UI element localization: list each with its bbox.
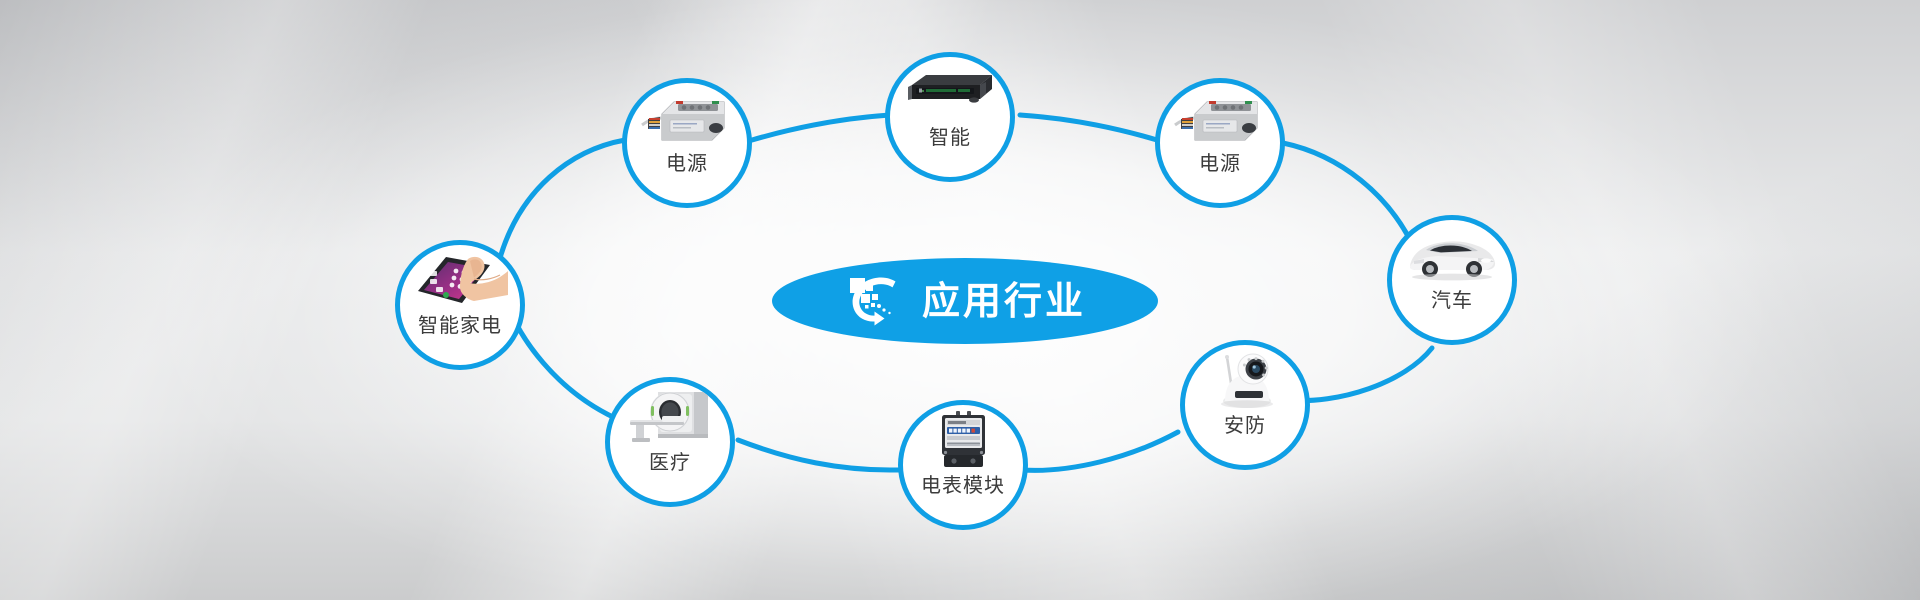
node-medical[interactable]: 医疗 bbox=[605, 377, 735, 507]
node-label: 电源 bbox=[666, 153, 708, 173]
link-meter-medical bbox=[738, 440, 898, 470]
sports-car-icon bbox=[1392, 220, 1512, 290]
link-intelligent-power-right bbox=[1020, 115, 1157, 140]
orbit-pixel-logo-icon bbox=[844, 272, 906, 330]
node-power-top-right[interactable]: 电源 bbox=[1155, 78, 1285, 208]
node-security[interactable]: 安防 bbox=[1180, 340, 1310, 470]
node-label: 智能 bbox=[929, 127, 971, 147]
ct-scanner-icon bbox=[610, 382, 730, 452]
tablet-touch-icon bbox=[400, 245, 520, 315]
node-meter-module[interactable]: 电表模块 bbox=[898, 400, 1028, 530]
node-label: 汽车 bbox=[1431, 290, 1473, 310]
node-label: 安防 bbox=[1224, 415, 1266, 435]
power-supply-icon bbox=[627, 83, 747, 153]
node-automotive[interactable]: 汽车 bbox=[1387, 215, 1517, 345]
node-intelligent[interactable]: 智能 bbox=[885, 52, 1015, 182]
node-label: 电源 bbox=[1199, 153, 1241, 173]
center-badge[interactable]: 应用行业 bbox=[772, 258, 1158, 344]
node-label: 智能家电 bbox=[418, 315, 502, 335]
link-security-meter bbox=[1022, 432, 1178, 470]
node-label: 医疗 bbox=[649, 452, 691, 472]
node-label: 电表模块 bbox=[921, 475, 1005, 495]
center-badge-label: 应用行业 bbox=[922, 282, 1086, 320]
ip-camera-icon bbox=[1185, 345, 1305, 415]
link-smarthome-power-left bbox=[500, 140, 625, 258]
power-supply-icon bbox=[1160, 83, 1280, 153]
link-power-left-intelligent bbox=[752, 115, 890, 140]
industry-application-banner: 电源 智能 bbox=[0, 0, 1920, 600]
rack-server-icon bbox=[890, 57, 1010, 127]
node-power-top-left[interactable]: 电源 bbox=[622, 78, 752, 208]
electric-meter-icon bbox=[903, 405, 1023, 475]
node-smart-home[interactable]: 智能家电 bbox=[395, 240, 525, 370]
